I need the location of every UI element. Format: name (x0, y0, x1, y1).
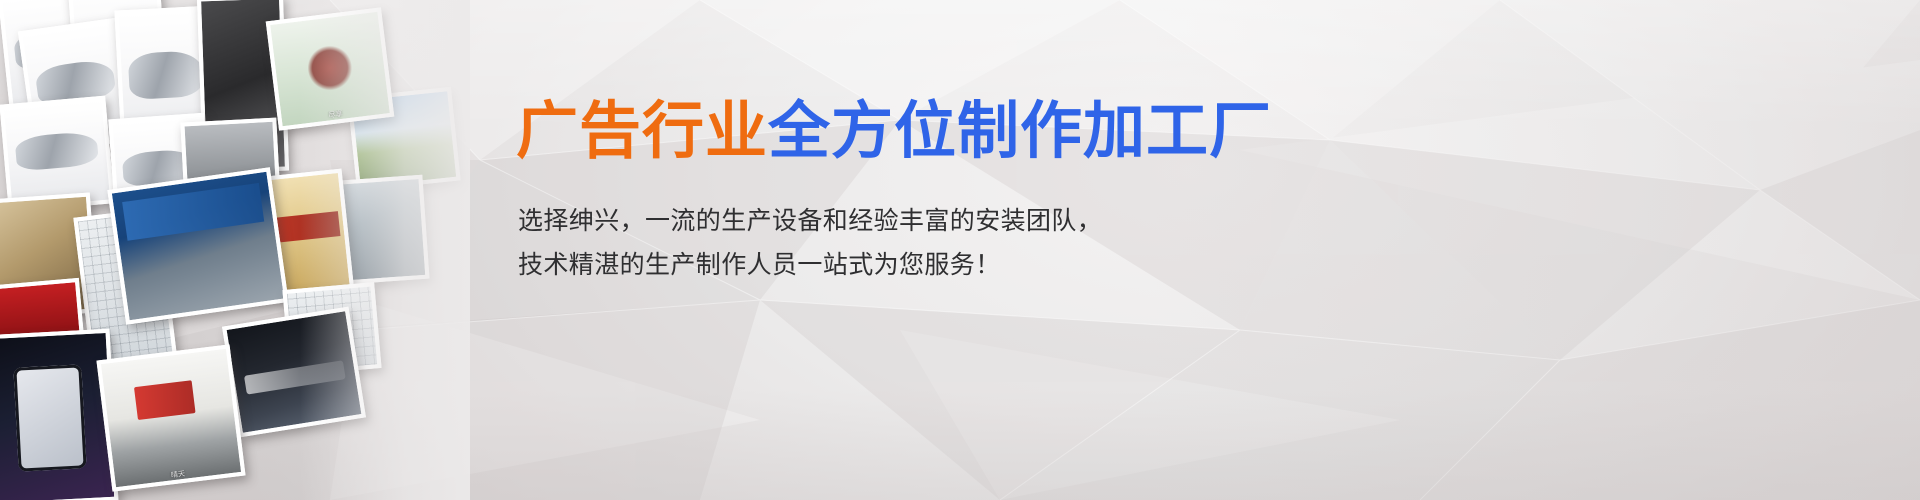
banner-content: 广告行业全方位制作加工厂 选择绅兴，一流的生产设备和经验丰富的安装团队， 技术精… (516, 0, 1676, 500)
collage-photo-night-storefront (222, 307, 366, 438)
collage-photo-white-shop-sign: 晴天 (96, 344, 245, 491)
subtitle-line-2: 技术精湛的生产制作人员一站式为您服务！ (518, 253, 1001, 278)
photo-collage: A6L A6L A6L 标致版 尽享 年度最佳 木 晴天 (0, 0, 470, 500)
collage-photo-caption: 晴天 (115, 463, 241, 487)
collage-photo-phone-lightbox (0, 329, 118, 500)
headline-segment-blue: 全方位制作加工厂 (768, 97, 1272, 166)
headline: 广告行业全方位制作加工厂 (516, 96, 1272, 168)
headline-segment-orange: 广告行业 (516, 97, 768, 166)
subtitle-line-1: 选择绅兴，一流的生产设备和经验丰富的安装团队， (518, 209, 1102, 234)
collage-photo-green-signboard: 尽享 (266, 7, 395, 130)
promo-banner: A6L A6L A6L 标致版 尽享 年度最佳 木 晴天 广告行业全方位制作加工… (0, 0, 1920, 500)
collage-photo-blue-shop-signboard (107, 167, 288, 325)
